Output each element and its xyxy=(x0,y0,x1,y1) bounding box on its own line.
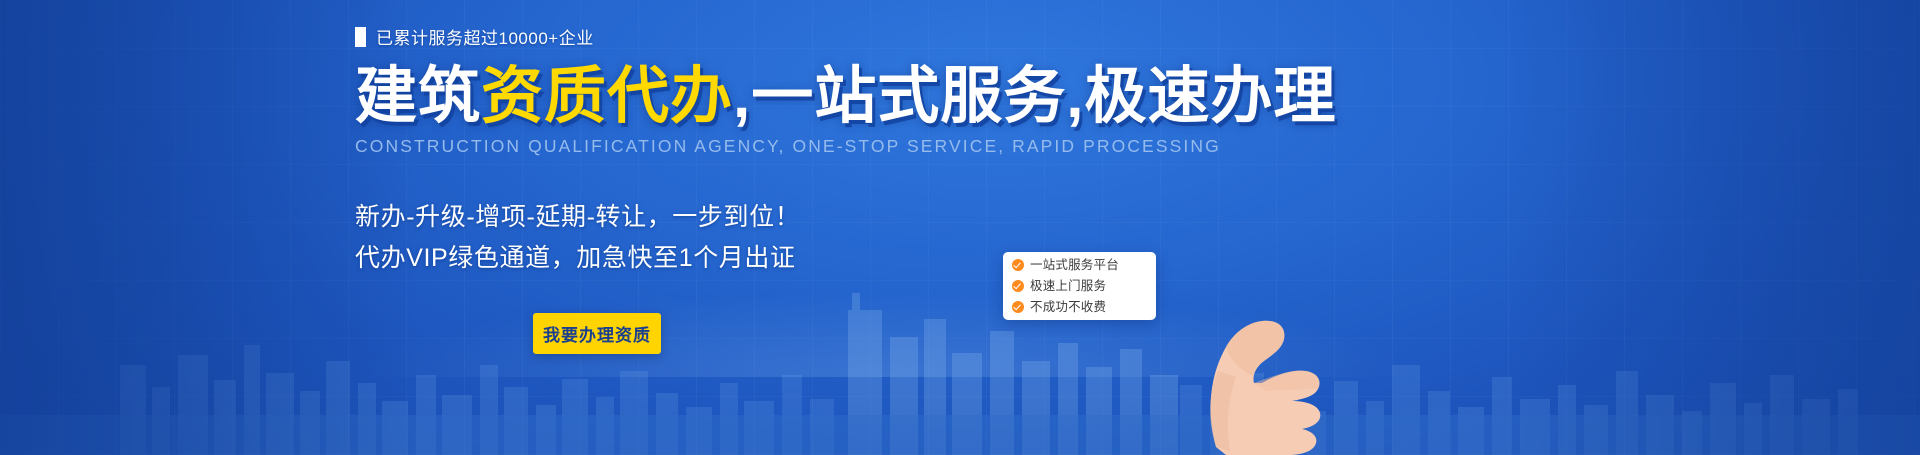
card-item: 极速上门服务 xyxy=(1012,280,1147,293)
subtitle-english: CONSTRUCTION QUALIFICATION AGENCY, ONE-S… xyxy=(355,136,1175,157)
apply-qualification-button[interactable]: 我要办理资质 xyxy=(533,313,661,354)
check-circle-icon xyxy=(1012,301,1024,313)
check-circle-icon xyxy=(1012,259,1024,271)
hand-illustration xyxy=(1030,215,1360,455)
card-item-label: 极速上门服务 xyxy=(1030,280,1106,293)
feature-card: 一站式服务平台 极速上门服务 不成功不收费 xyxy=(1003,252,1156,320)
eyebrow-stat: 已累计服务超过10000+企业 xyxy=(355,24,1175,49)
eyebrow-marker-icon xyxy=(355,27,366,47)
headline-part-2: ,一站式服务,极速办理 xyxy=(733,62,1336,131)
card-item-label: 一站式服务平台 xyxy=(1030,259,1119,272)
card-item: 不成功不收费 xyxy=(1012,301,1147,314)
page-title: 建筑资质代办,一站式服务,极速办理 xyxy=(355,65,1175,128)
eyebrow-label: 已累计服务超过10000+企业 xyxy=(376,24,594,49)
right-vignette xyxy=(1500,0,1920,455)
headline-part-1: 建筑 xyxy=(355,62,481,131)
check-circle-icon xyxy=(1012,280,1024,292)
card-item-label: 不成功不收费 xyxy=(1030,301,1106,314)
promo-banner: 已累计服务超过10000+企业 建筑资质代办,一站式服务,极速办理 CONSTR… xyxy=(0,0,1920,455)
card-item: 一站式服务平台 xyxy=(1012,259,1147,272)
headline-highlight: 资质代办 xyxy=(481,62,733,131)
